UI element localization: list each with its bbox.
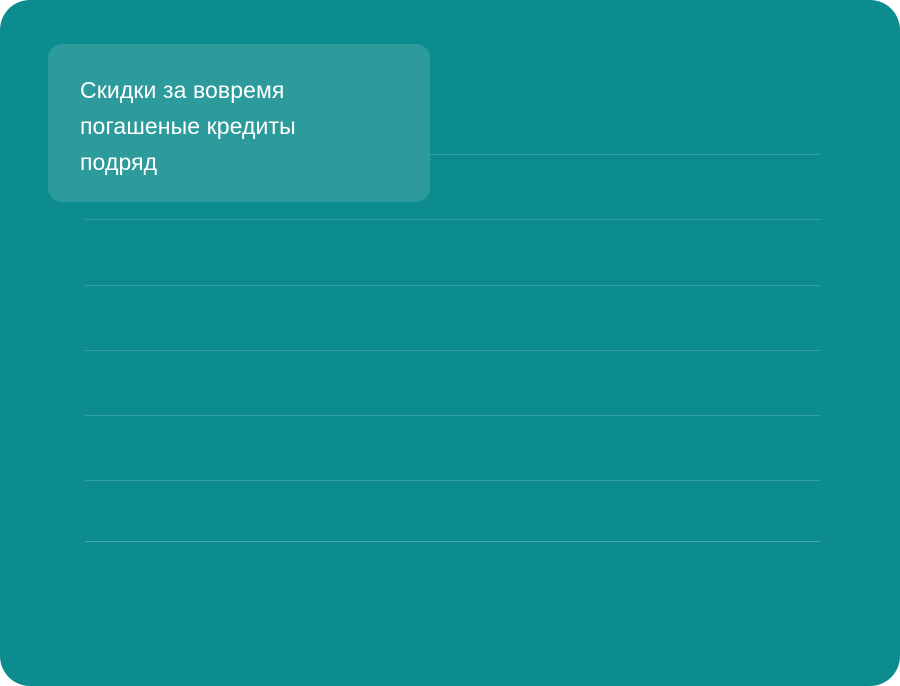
gridline [85, 415, 820, 416]
gridline [85, 285, 820, 286]
page-title: Скидки за вовремя погашеные кредиты подр… [80, 72, 400, 180]
gridline [85, 480, 820, 481]
infographic-container: 10% 1 15% 2 20% 3 [0, 0, 900, 686]
gridline [85, 350, 820, 351]
gridline [85, 219, 820, 220]
gridline-baseline [85, 541, 820, 542]
title-card: Скидки за вовремя погашеные кредиты подр… [48, 44, 430, 202]
